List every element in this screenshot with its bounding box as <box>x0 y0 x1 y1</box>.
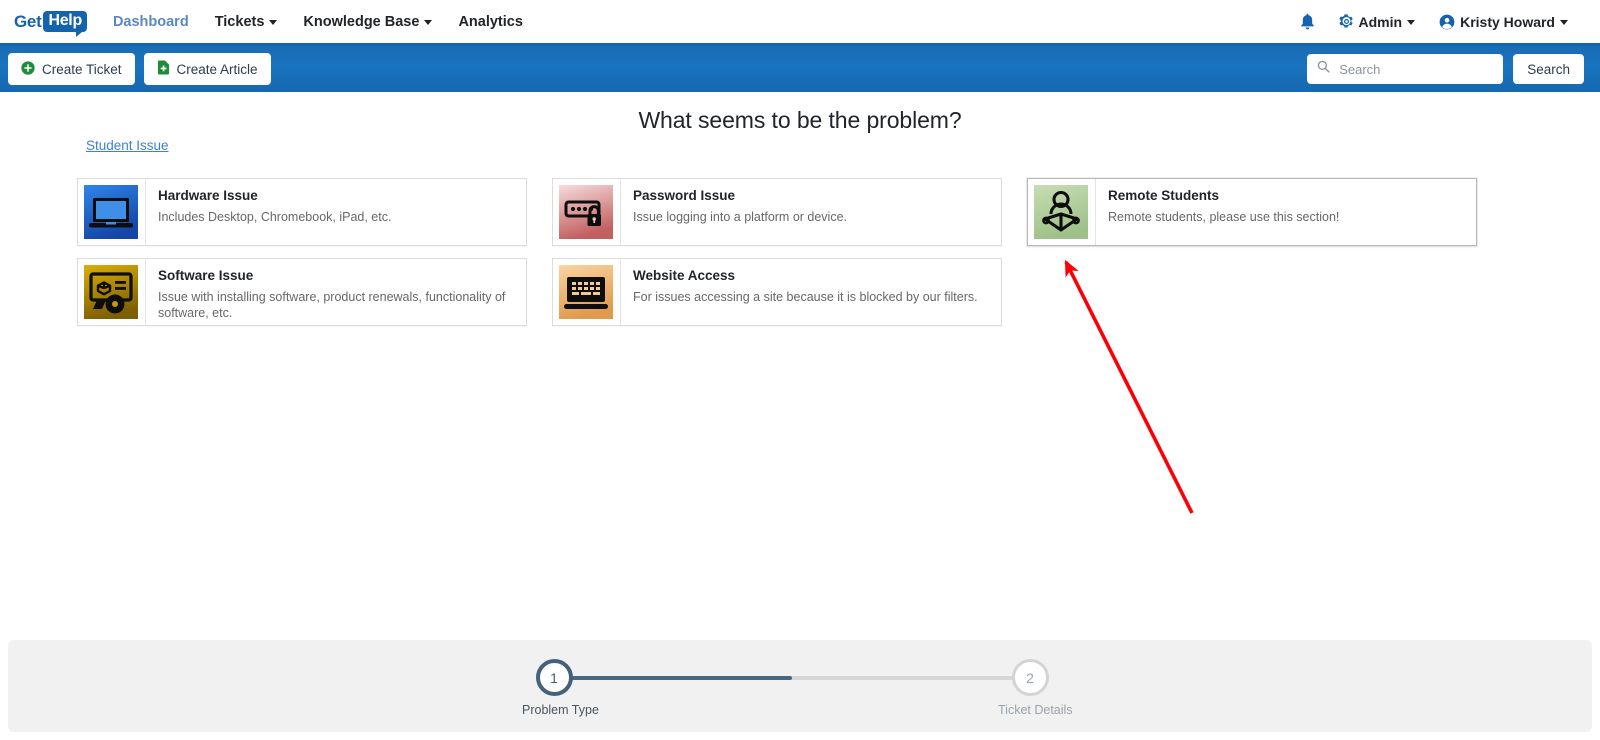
page-title: What seems to be the problem? <box>0 92 1600 134</box>
software-disc-icon <box>81 262 141 322</box>
stepper-step-number: 2 <box>1012 659 1049 696</box>
problem-card-desc: Issue with installing software, product … <box>158 290 514 321</box>
stepper-step-problem-type[interactable]: 1 Problem Type <box>522 659 586 717</box>
file-add-icon <box>157 60 170 78</box>
problem-card-desc: Includes Desktop, Chromebook, iPad, etc. <box>158 210 514 226</box>
search-icon <box>1317 60 1330 78</box>
nav-item-admin-label: Admin <box>1359 14 1403 30</box>
nav-links: Dashboard Tickets Knowledge Base Analyti… <box>113 14 523 30</box>
gear-icon <box>1339 14 1354 29</box>
nav-item-user-label: Kristy Howard <box>1460 14 1555 30</box>
problem-card-desc: Remote students, please use this section… <box>1108 210 1464 226</box>
search-button[interactable]: Search <box>1513 54 1584 84</box>
nav-item-knowledge-base[interactable]: Knowledge Base <box>303 14 432 30</box>
problem-card-title: Website Access <box>633 268 989 284</box>
problem-card-desc: For issues accessing a site because it i… <box>633 290 989 306</box>
keyboard-icon <box>556 262 616 322</box>
nav-item-tickets[interactable]: Tickets <box>215 14 278 30</box>
toolbar-search-group: Search <box>1307 54 1592 84</box>
stepper-progress-fill <box>554 676 792 680</box>
stepper-step-label: Problem Type <box>522 703 586 717</box>
category-link-student-issue[interactable]: Student Issue <box>86 138 169 153</box>
nav-item-user-menu[interactable]: Kristy Howard <box>1439 14 1568 30</box>
problem-card-desc: Issue logging into a platform or device. <box>633 210 989 226</box>
create-ticket-button[interactable]: Create Ticket <box>8 53 135 85</box>
problem-card-body: Website Access For issues accessing a si… <box>620 259 1001 325</box>
user-circle-icon <box>1439 14 1455 30</box>
password-lock-icon <box>556 182 616 242</box>
progress-stepper: 1 Problem Type 2 Ticket Details <box>522 659 1062 723</box>
laptop-icon <box>81 182 141 242</box>
nav-item-tickets-label: Tickets <box>215 14 265 30</box>
problem-card-title: Password Issue <box>633 188 989 204</box>
nav-item-analytics[interactable]: Analytics <box>458 14 522 30</box>
nav-item-analytics-label: Analytics <box>458 14 522 30</box>
problem-type-grid: Hardware Issue Includes Desktop, Chromeb… <box>77 178 1527 326</box>
create-ticket-label: Create Ticket <box>42 62 122 77</box>
problem-card-body: Software Issue Issue with installing sof… <box>145 259 526 325</box>
create-article-label: Create Article <box>177 62 258 77</box>
problem-card-body: Password Issue Issue logging into a plat… <box>620 179 1001 245</box>
action-toolbar: Create Ticket Create Article Search <box>0 46 1600 92</box>
problem-card-title: Remote Students <box>1108 188 1464 204</box>
main-content: What seems to be the problem? Student Is… <box>0 92 1600 640</box>
search-input[interactable] <box>1337 61 1493 78</box>
brand-logo[interactable]: Get Help <box>14 11 87 32</box>
problem-card-remote-students[interactable]: Remote Students Remote students, please … <box>1027 178 1477 246</box>
problem-card-title: Hardware Issue <box>158 188 514 204</box>
problem-card-body: Remote Students Remote students, please … <box>1095 179 1476 245</box>
chevron-down-icon <box>424 20 432 25</box>
problem-card-body: Hardware Issue Includes Desktop, Chromeb… <box>145 179 526 245</box>
nav-item-dashboard[interactable]: Dashboard <box>113 14 189 30</box>
problem-card-password-issue[interactable]: Password Issue Issue logging into a plat… <box>552 178 1002 246</box>
chevron-down-icon <box>269 20 277 25</box>
nav-item-knowledge-base-label: Knowledge Base <box>303 14 419 30</box>
problem-card-title: Software Issue <box>158 268 514 284</box>
nav-item-dashboard-label: Dashboard <box>113 14 189 30</box>
wizard-footer: 1 Problem Type 2 Ticket Details <box>8 640 1592 732</box>
chevron-down-icon <box>1407 20 1415 25</box>
plus-circle-icon <box>21 61 35 78</box>
brand-help-bubble: Help <box>43 11 86 32</box>
top-navbar: Get Help Dashboard Tickets Knowledge Bas… <box>0 0 1600 46</box>
problem-card-hardware-issue[interactable]: Hardware Issue Includes Desktop, Chromeb… <box>77 178 527 246</box>
navbar-right-group: Admin Kristy Howard <box>1300 13 1586 30</box>
nav-item-admin[interactable]: Admin <box>1339 14 1416 30</box>
create-article-button[interactable]: Create Article <box>144 53 271 85</box>
stepper-step-number: 1 <box>536 659 573 696</box>
problem-card-software-issue[interactable]: Software Issue Issue with installing sof… <box>77 258 527 326</box>
bell-icon[interactable] <box>1300 13 1315 30</box>
search-input-wrapper[interactable] <box>1307 54 1503 84</box>
brand-get-text: Get <box>14 12 41 32</box>
stepper-step-label: Ticket Details <box>998 703 1062 717</box>
stepper-step-ticket-details[interactable]: 2 Ticket Details <box>998 659 1062 717</box>
chevron-down-icon <box>1560 20 1568 25</box>
person-reading-icon <box>1031 182 1091 242</box>
problem-card-website-access[interactable]: Website Access For issues accessing a si… <box>552 258 1002 326</box>
